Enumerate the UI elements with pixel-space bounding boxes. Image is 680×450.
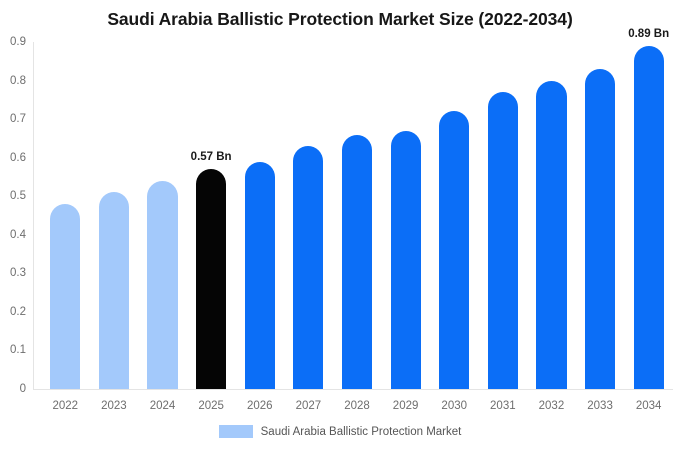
bar-2027[interactable]	[293, 146, 323, 389]
bar-2022[interactable]	[50, 204, 80, 389]
bar-slot	[488, 42, 518, 389]
x-axis-tick-2031: 2031	[479, 400, 528, 412]
bar-slot	[293, 42, 323, 389]
chart-container: Saudi Arabia Ballistic Protection Market…	[0, 0, 680, 450]
y-axis-tick: 0.6	[10, 152, 26, 164]
x-axis-tick-2025: 2025	[187, 400, 236, 412]
bar-2024[interactable]	[147, 181, 177, 389]
bar-2025[interactable]	[196, 169, 226, 389]
x-axis-tick-2029: 2029	[381, 400, 430, 412]
bar-slot	[342, 42, 372, 389]
bar-2028[interactable]	[342, 135, 372, 389]
x-axis-line	[33, 389, 673, 390]
bar-slot	[439, 42, 469, 389]
y-axis-line	[33, 42, 34, 389]
bar-slot	[99, 42, 129, 389]
bar-value-label-2034: 0.89 Bn	[628, 28, 669, 40]
x-axis-tick-2022: 2022	[41, 400, 90, 412]
bar-2029[interactable]	[391, 131, 421, 389]
bar-value-label-2025: 0.57 Bn	[191, 151, 232, 163]
x-axis-tick-2023: 2023	[90, 400, 139, 412]
bar-slot	[585, 42, 615, 389]
x-axis-tick-2033: 2033	[576, 400, 625, 412]
bar-2023[interactable]	[99, 192, 129, 389]
bar-2030[interactable]	[439, 111, 469, 389]
y-axis-tick: 0.3	[10, 267, 26, 279]
bar-slot: 0.57 Bn	[196, 42, 226, 389]
bar-2032[interactable]	[536, 81, 566, 389]
x-axis-tick-2028: 2028	[333, 400, 382, 412]
x-axis-tick-2034: 2034	[624, 400, 673, 412]
bar-2034[interactable]	[634, 46, 664, 389]
bar-2033[interactable]	[585, 69, 615, 389]
bar-slot	[147, 42, 177, 389]
bar-2031[interactable]	[488, 92, 518, 389]
x-axis-tick-2026: 2026	[235, 400, 284, 412]
y-axis-tick: 0.9	[10, 36, 26, 48]
bar-2026[interactable]	[245, 162, 275, 389]
plot-area: 00.10.20.30.40.50.60.70.80.9 0.57 Bn0.89…	[33, 42, 673, 389]
y-axis-tick: 0.1	[10, 344, 26, 356]
bar-slot	[245, 42, 275, 389]
y-axis-tick: 0.4	[10, 229, 26, 241]
bar-slot	[391, 42, 421, 389]
y-axis-tick: 0	[20, 383, 26, 395]
y-axis-tick: 0.7	[10, 113, 26, 125]
chart-legend: Saudi Arabia Ballistic Protection Market	[0, 425, 680, 438]
x-axis-tick-2024: 2024	[138, 400, 187, 412]
bar-slot: 0.89 Bn	[634, 42, 664, 389]
x-axis-tick-2032: 2032	[527, 400, 576, 412]
x-axis-tick-2027: 2027	[284, 400, 333, 412]
chart-title: Saudi Arabia Ballistic Protection Market…	[0, 9, 680, 30]
y-axis-tick: 0.8	[10, 75, 26, 87]
x-axis-tick-2030: 2030	[430, 400, 479, 412]
bar-slot	[536, 42, 566, 389]
bar-slot	[50, 42, 80, 389]
legend-item-label: Saudi Arabia Ballistic Protection Market	[261, 426, 462, 438]
y-axis-tick: 0.2	[10, 306, 26, 318]
y-axis-tick: 0.5	[10, 190, 26, 202]
legend-swatch-icon	[219, 425, 253, 438]
